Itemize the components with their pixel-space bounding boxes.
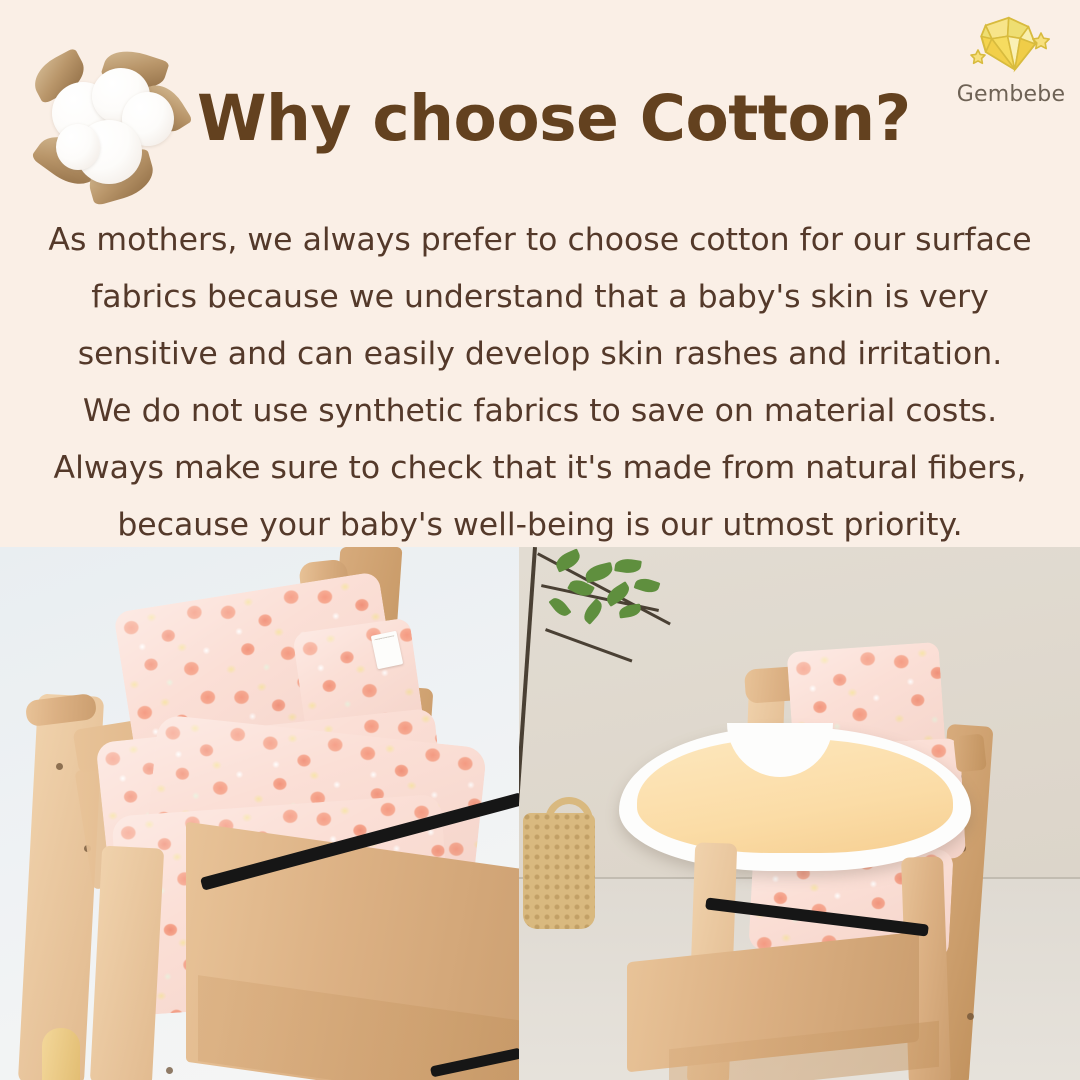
body-line: We do not use synthetic fabrics to save … — [0, 383, 1080, 440]
chair-tray-mount-right — [953, 734, 987, 773]
body-line: sensitive and can easily develop skin ra… — [0, 326, 1080, 383]
chair-front-leg — [90, 846, 164, 1080]
product-photo-strip — [0, 547, 1080, 1080]
product-photo-right — [519, 547, 1080, 1080]
gem-diamond-icon — [969, 14, 1051, 76]
brand-tag-text — [375, 635, 400, 665]
text-panel: Why choose Cotton? Gembebe — [0, 0, 1080, 547]
woven-basket — [523, 813, 595, 929]
page-title: Why choose Cotton? — [197, 82, 911, 155]
body-paragraph: As mothers, we always prefer to choose c… — [0, 212, 1080, 547]
body-line: As mothers, we always prefer to choose c… — [0, 212, 1080, 269]
body-line: because your baby's well-being is our ut… — [0, 497, 1080, 547]
chair-screw — [166, 1067, 173, 1074]
chair-screw — [56, 763, 63, 770]
wooden-toy — [42, 1028, 80, 1080]
promo-graphic: Why choose Cotton? Gembebe — [0, 0, 1080, 1080]
brand-logo: Gembebe — [955, 14, 1067, 110]
sparkle-star-icon — [971, 50, 985, 63]
sparkle-star-icon — [1033, 33, 1049, 49]
cotton-boll-icon — [30, 52, 190, 200]
body-line: fabrics because we understand that a bab… — [0, 269, 1080, 326]
brand-wordmark: Gembebe — [955, 82, 1067, 107]
product-photo-left — [0, 547, 519, 1080]
chair-screw — [967, 1013, 974, 1020]
body-line: Always make sure to check that it's made… — [0, 440, 1080, 497]
